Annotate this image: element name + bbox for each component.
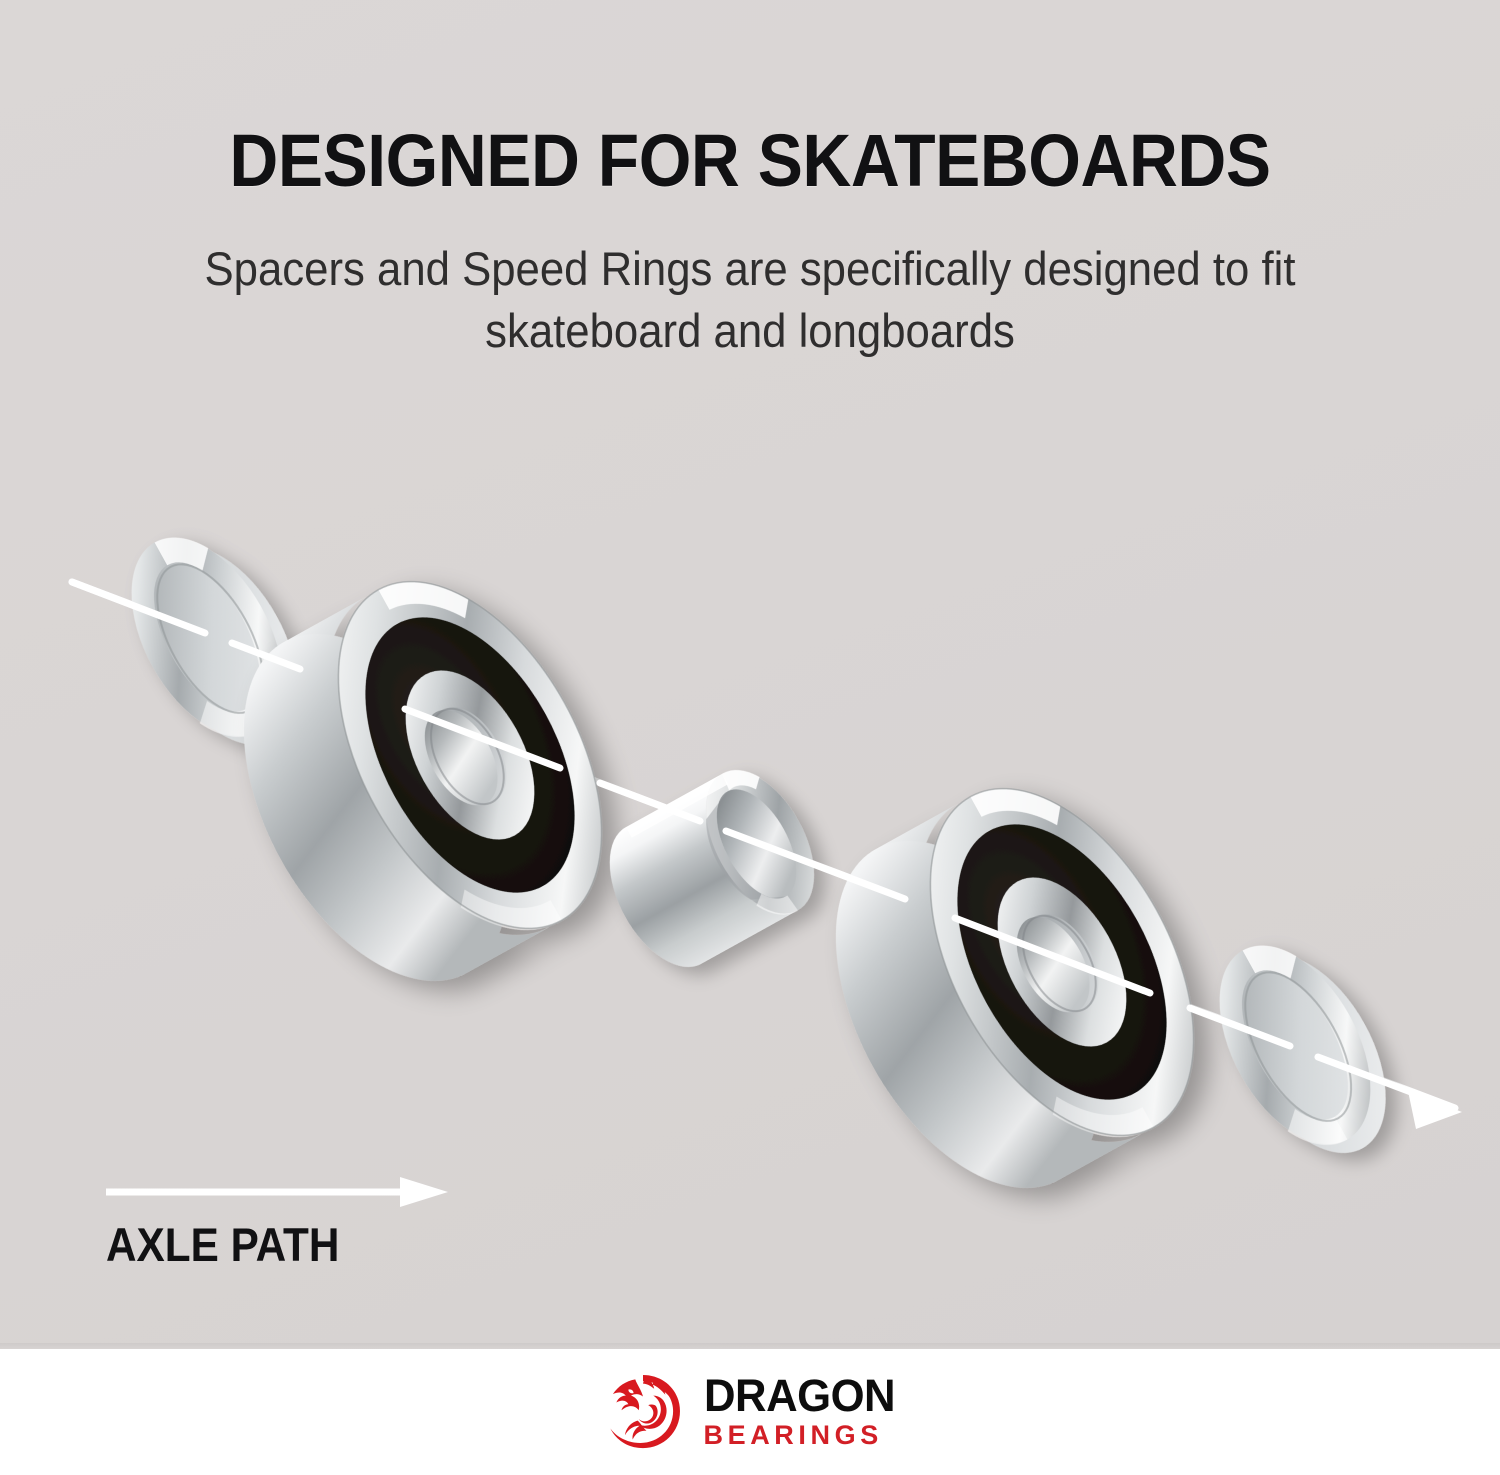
axle-path-label: AXLE PATH xyxy=(106,1219,339,1271)
axle-path-arrow-icon xyxy=(104,1175,454,1209)
footer-bar: DRAGON BEARINGS xyxy=(0,1349,1500,1475)
exploded-bearing-assembly xyxy=(0,0,1500,1349)
infographic-page: DESIGNED FOR SKATEBOARDS Spacers and Spe… xyxy=(0,0,1500,1475)
brand-secondary-text: BEARINGS xyxy=(704,1420,901,1450)
dragon-icon xyxy=(600,1369,686,1455)
spacer-center xyxy=(587,752,836,985)
brand-wordmark: DRAGON BEARINGS xyxy=(704,1374,901,1450)
bearing-right xyxy=(781,744,1248,1232)
brand-primary-text: DRAGON xyxy=(704,1374,895,1418)
speed-ring-right xyxy=(1188,916,1416,1183)
axle-path-legend: AXLE PATH xyxy=(104,1175,574,1305)
brand-logo: DRAGON BEARINGS xyxy=(600,1369,901,1455)
